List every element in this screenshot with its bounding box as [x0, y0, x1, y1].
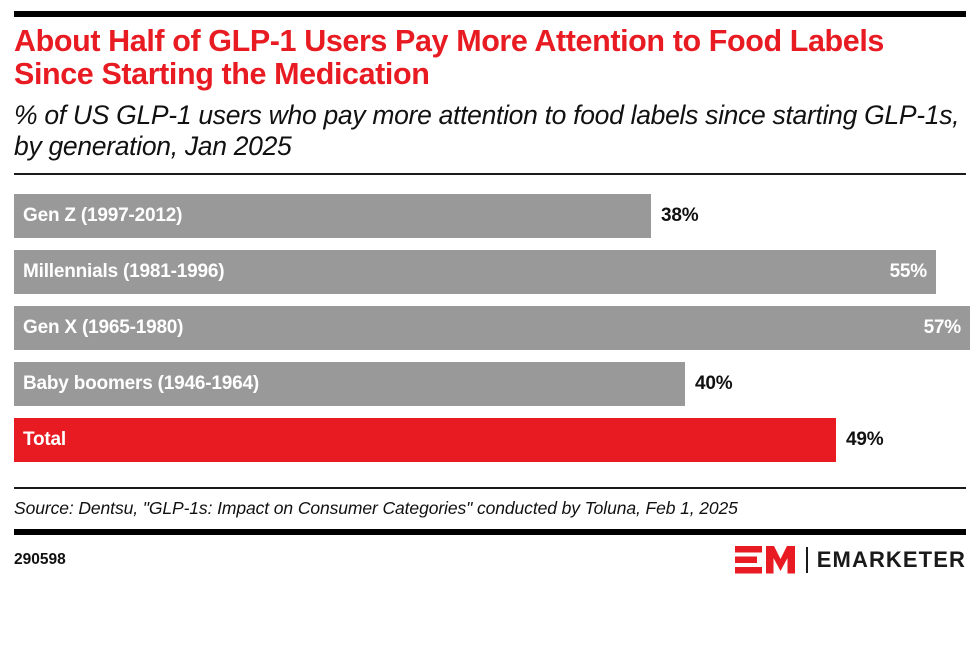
- em-logo-mark-icon: [735, 545, 797, 575]
- bar-value-label: 38%: [651, 194, 698, 238]
- bar-value-label: 40%: [685, 362, 732, 406]
- bar[interactable]: Total: [14, 418, 836, 462]
- bar-row: Total49%: [14, 418, 970, 462]
- footer: 290598 EMARKETER: [14, 545, 966, 575]
- bar-row: Gen X (1965-1980)57%: [14, 306, 970, 350]
- top-rule: [14, 11, 966, 17]
- bar-value-label: 57%: [924, 317, 970, 339]
- chart-card: About Half of GLP-1 Users Pay More Atten…: [0, 11, 980, 672]
- bar-row: Baby boomers (1946-1964)40%: [14, 362, 970, 406]
- bar-value-label: 55%: [890, 261, 936, 283]
- bar-chart: Gen Z (1997-2012)38%Millennials (1981-19…: [14, 194, 970, 462]
- bar[interactable]: Millennials (1981-1996)55%: [14, 250, 936, 294]
- bar[interactable]: Baby boomers (1946-1964): [14, 362, 685, 406]
- source-divider-bottom: [14, 529, 966, 535]
- bar[interactable]: Gen X (1965-1980)57%: [14, 306, 970, 350]
- page-title: About Half of GLP-1 Users Pay More Atten…: [14, 25, 954, 91]
- bar-value-label: 49%: [836, 418, 883, 462]
- chart-subtitle: % of US GLP-1 users who pay more attenti…: [14, 100, 964, 162]
- bar[interactable]: Gen Z (1997-2012): [14, 194, 651, 238]
- bar-category-label: Total: [14, 429, 66, 451]
- logo-wordmark: EMARKETER: [817, 547, 966, 573]
- chart-id: 290598: [14, 551, 66, 569]
- source-note: Source: Dentsu, "GLP-1s: Impact on Consu…: [14, 497, 964, 520]
- bar-category-label: Millennials (1981-1996): [14, 261, 224, 283]
- source-divider-top: [14, 487, 966, 489]
- bar-category-label: Gen Z (1997-2012): [14, 205, 182, 227]
- bar-row: Millennials (1981-1996)55%: [14, 250, 970, 294]
- bar-row: Gen Z (1997-2012)38%: [14, 194, 970, 238]
- header-divider: [14, 173, 966, 175]
- bar-category-label: Baby boomers (1946-1964): [14, 373, 259, 395]
- emarketer-logo[interactable]: EMARKETER: [735, 545, 966, 575]
- bar-category-label: Gen X (1965-1980): [14, 317, 183, 339]
- logo-divider: [806, 547, 808, 573]
